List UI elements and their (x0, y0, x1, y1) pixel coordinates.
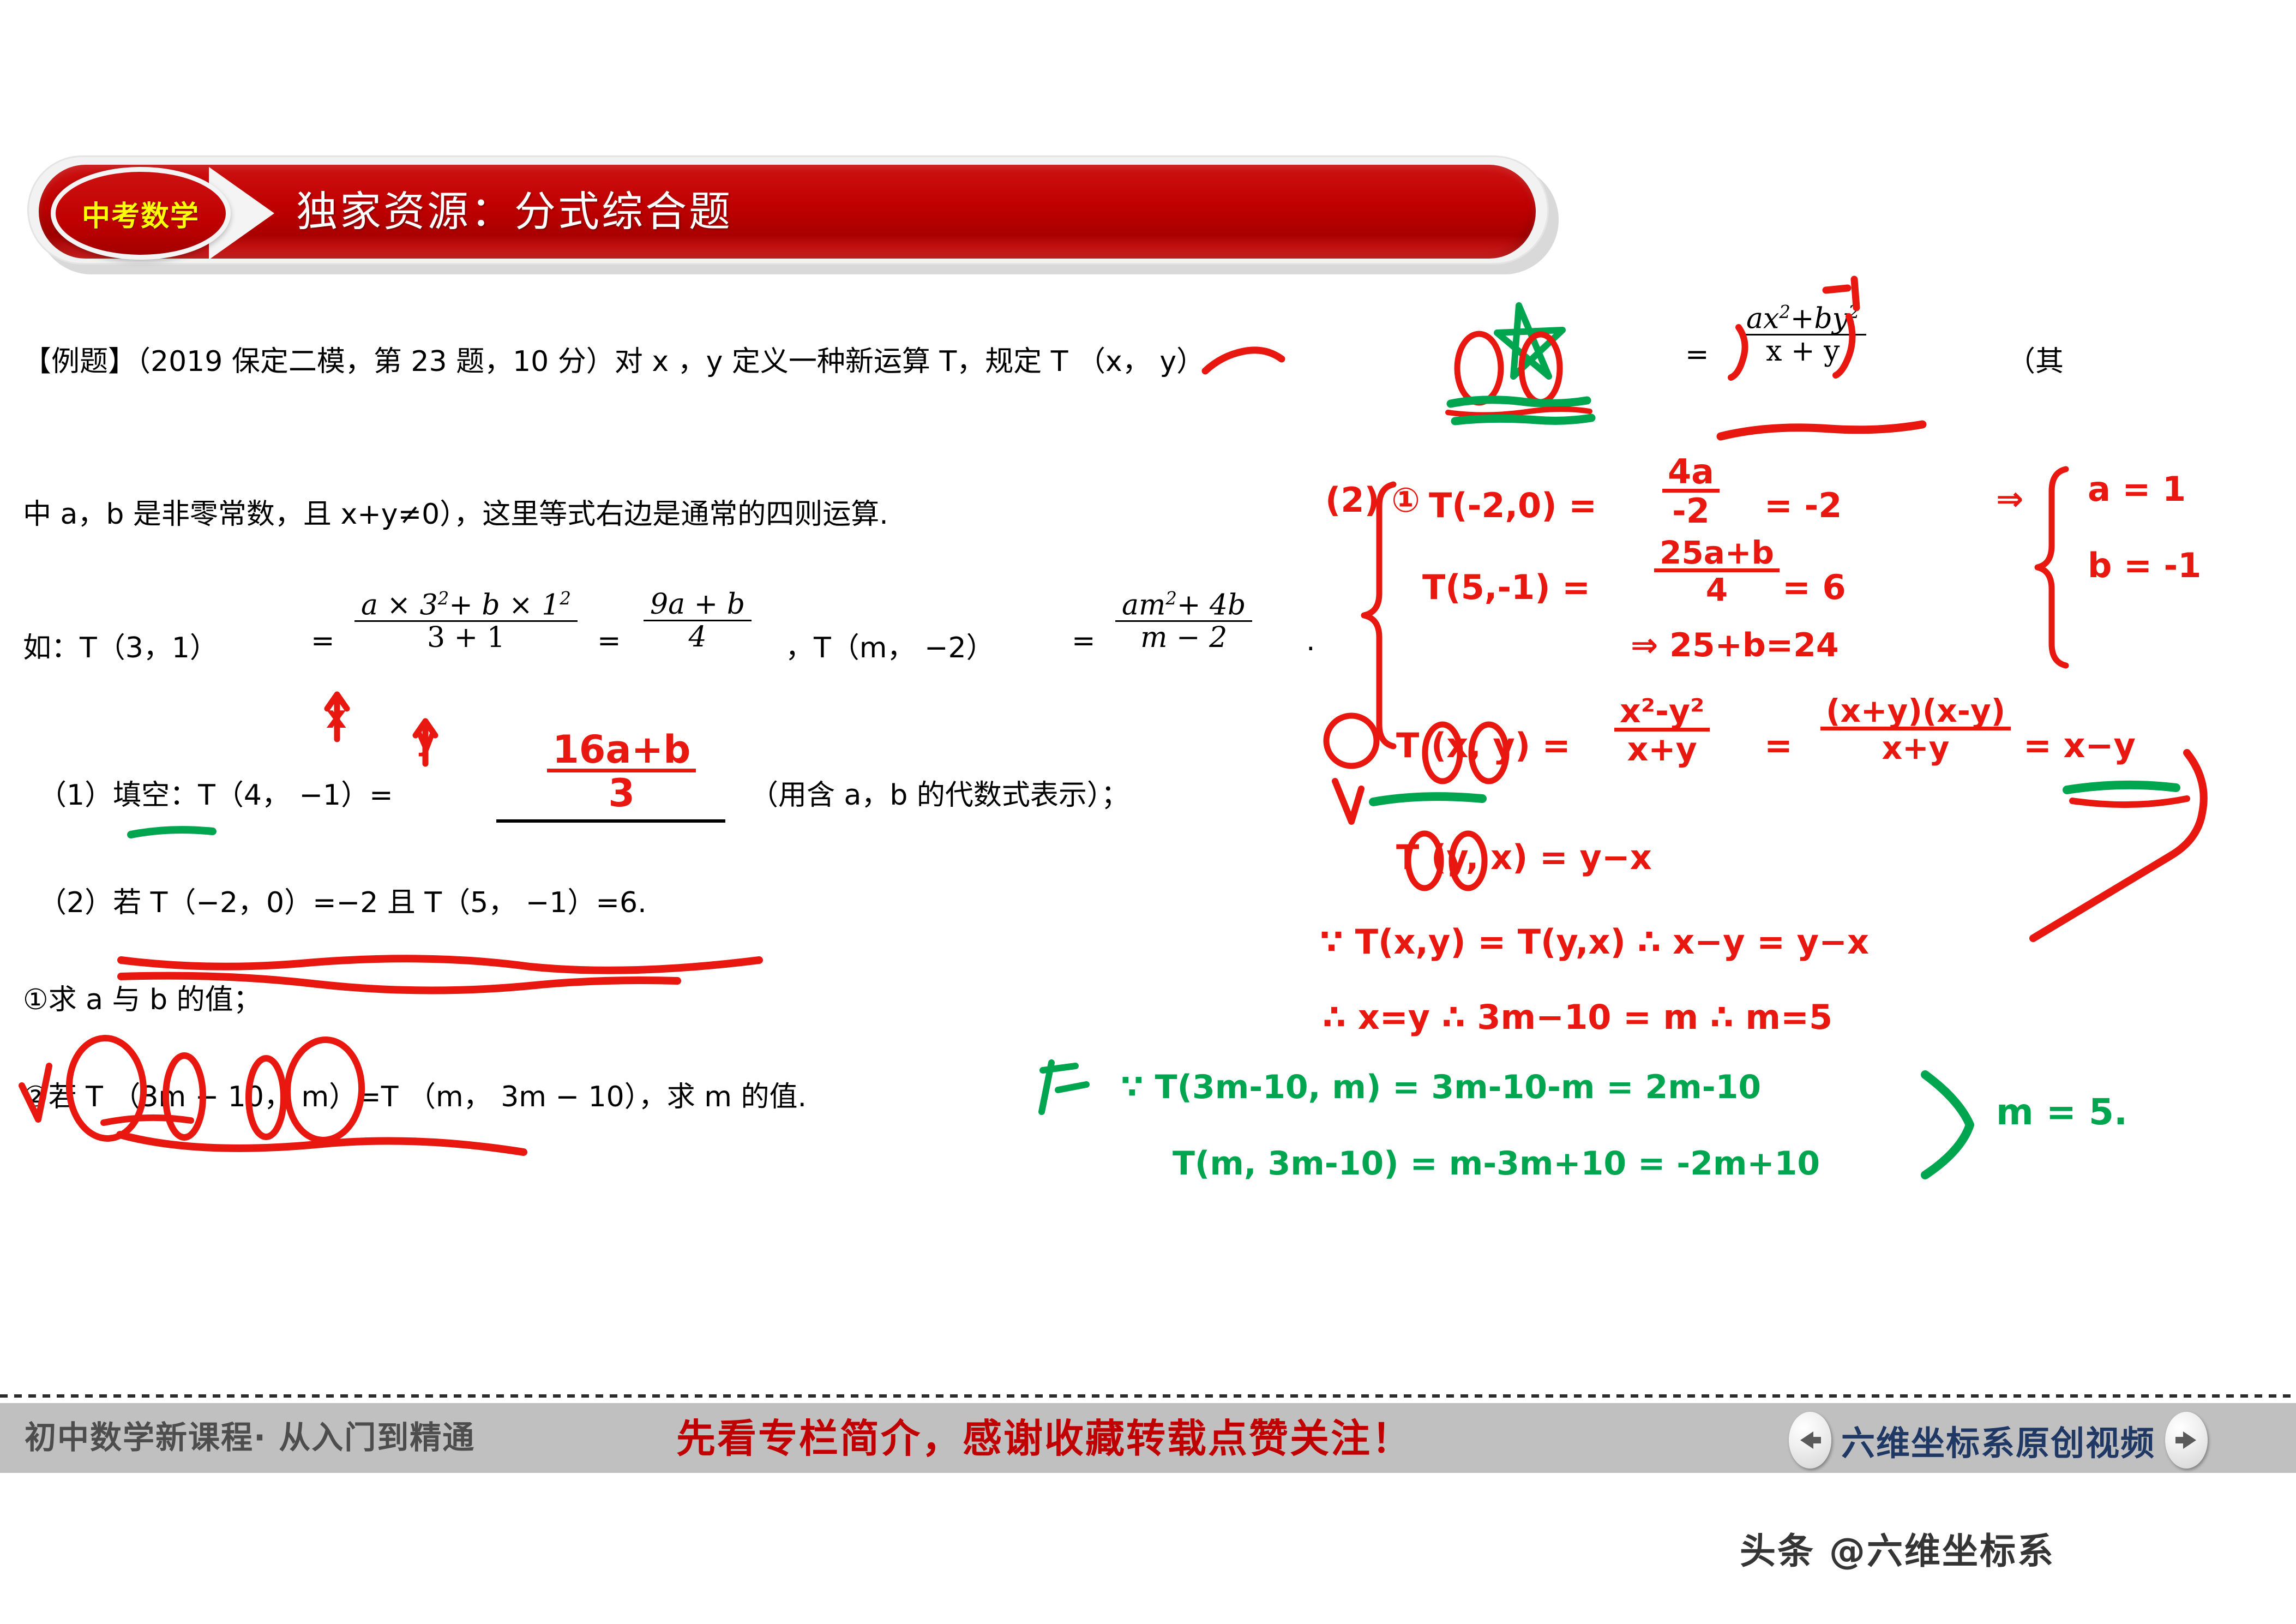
example-fraction-1-denominator: 3 + 1 (354, 622, 578, 653)
f1-num-left: a × 3 (361, 589, 438, 621)
underline-xy-green-2 (1455, 418, 1591, 421)
hw-txy-eq2: = (1764, 726, 1793, 765)
underline-denominator-xy (1721, 424, 1922, 436)
var-x: x (1763, 302, 1779, 335)
hw-q1-answer-num: 16a+b (547, 730, 696, 772)
hw-result-b: b = -1 (2088, 546, 2201, 585)
f3-num-left: am (1122, 589, 1165, 621)
problem-line-1-text: 【例题】（2019 保定二模，第 23 题，10 分）对 x ，y 定义一种新运… (23, 338, 1205, 379)
hw-eq1-frac-num: 4a (1662, 455, 1720, 493)
page-title: 独家资源：分式综合题 (296, 178, 732, 238)
hw-eq1-rhs: = -2 (1764, 486, 1842, 525)
hw-eq2-fraction: 25a+b 4 (1650, 540, 1784, 609)
hw-reason-line-2: ∴ x=y ∴ 3m−10 = m ∴ m=5 (1323, 997, 1832, 1037)
question-1-answer-blank[interactable] (496, 819, 725, 823)
hw-derive-line: ⇒ 25+b=24 (1631, 626, 1839, 664)
hw-txy-f2-num: (x+y)(x-y) (1820, 695, 2011, 730)
arrow-right-icon[interactable] (2165, 1412, 2208, 1469)
problem-line-3-tail: . (1306, 625, 1315, 657)
underline-sub2 (120, 1135, 524, 1152)
problem-line-1-equals: = (1685, 338, 1709, 371)
brace-system-left (1364, 484, 1393, 746)
underline-result-red (2072, 799, 2187, 805)
problem-line-3-eq2: = (597, 625, 621, 657)
hw-eq1-lhs: T(-2,0) = (1429, 486, 1597, 525)
hw-txy-lhs: T (x, y) = (1396, 726, 1571, 765)
underline-txy-green (1373, 796, 1482, 802)
hw-eq2-rhs: = 6 (1782, 567, 1846, 607)
hw-txy-eq3: = x−y (2023, 726, 2136, 765)
f1-num-mid: + b × 1 (449, 589, 560, 621)
f1-num-exp2: 2 (560, 588, 571, 609)
checkmark-sub2-right (1335, 781, 1361, 822)
example-fraction-2-numerator: 9a + b (644, 590, 752, 621)
banner-badge-label: 中考数学 (82, 193, 200, 234)
coef-b: b (1814, 302, 1832, 335)
banner-badge: 中考数学 (51, 167, 231, 260)
hw-green-line-2: T(m, 3m-10) = m-3m+10 = -2m+10 (1173, 1144, 1820, 1183)
example-fraction-1-numerator: a × 32+ b × 12 (354, 590, 578, 622)
f1-num-exp1: 2 (438, 588, 449, 609)
hw-green-answer: m = 5. (1996, 1091, 2127, 1133)
underline-sub2-small (104, 1118, 191, 1123)
problem-line-3-eq3: = (1072, 625, 1096, 657)
hw-txy-f1-num: x²-y² (1614, 695, 1710, 732)
hw-result-a: a = 1 (2088, 469, 2186, 509)
hw-tyx-line: T (y, x) = y−x (1396, 837, 1652, 877)
question-1-prefix: （1）填空：T（4， −1）= (38, 772, 393, 813)
definition-fraction: ax2+by2 x + y (1734, 305, 1872, 369)
question-1-suffix: （用含 a，b 的代数式表示）； (750, 772, 1129, 813)
banner-outer-frame: 中考数学 独家资源：分式综合题 (27, 155, 1549, 265)
example-fraction-3-denominator: m − 2 (1115, 622, 1252, 653)
footer-channel-label: 六维坐标系原创视频 (1841, 1416, 2155, 1465)
star-mark-green (1497, 305, 1562, 376)
hw-txy-fraction-2: (x+y)(x-y) x+y (1816, 698, 2015, 767)
green-alt-mark (1042, 1063, 1086, 1112)
problem-line-3-eq1: = (311, 625, 335, 657)
hw-eq2-lhs: T(5,-1) = (1422, 567, 1590, 607)
footer-course-label: 初中数学新课程· 从入门到精通 (25, 1412, 475, 1458)
circle-var-x (1457, 334, 1501, 403)
problem-line-3-mid: ，T（m， −2） (785, 625, 995, 666)
hw-question1-answer: 16a+b 3 (543, 734, 700, 816)
example-fraction-2: 9a + b 4 (638, 592, 757, 654)
f3-num-exp: 2 (1165, 588, 1177, 609)
header-banner: 中考数学 独家资源：分式综合题 (27, 155, 1560, 273)
underline-new-operation (1205, 350, 1282, 371)
question-2-sub-1: ①求 a 与 b 的值； (23, 976, 262, 1017)
watermark-label: 头条 @六维坐标系 (1740, 1522, 2055, 1574)
hw-part2-label: (2) ① (1325, 480, 1420, 520)
question-2-sub-2: ②若 T （3m − 10， m）=T （m， 3m − 10），求 m 的值. (23, 1074, 807, 1114)
var-y: y (1832, 302, 1848, 335)
example-fraction-2-denominator: 4 (644, 621, 752, 652)
hw-eq2-frac-num: 25a+b (1654, 537, 1780, 572)
underline-result-green (2067, 785, 2176, 790)
plus-sign: + (1790, 302, 1814, 335)
footer-nav-group[interactable]: 六维坐标系原创视频 (1789, 1412, 2208, 1469)
circle-marker-sub2 (1326, 716, 1377, 766)
green-bracket-result (1925, 1075, 1970, 1175)
footer-cta-label: 先看专栏简介，感谢收藏转载点赞关注！ (676, 1406, 1413, 1464)
pointer-arrow-right (2033, 753, 2204, 938)
hw-eq1-fraction: 4a -2 (1658, 458, 1724, 531)
example-fraction-1: a × 32+ b × 12 3 + 1 (349, 592, 583, 655)
footer-divider (0, 1394, 2296, 1398)
question-2: （2）若 T（−2，0）=−2 且 T（5， −1）=6. (38, 879, 647, 920)
underline-xy-red (1448, 409, 1590, 415)
problem-line-1-tail: （其 (2007, 338, 2064, 379)
exp-2-y: 2 (1848, 302, 1860, 322)
definition-fraction-numerator: ax2+by2 (1740, 303, 1866, 335)
hw-txy-f2-den: x+y (1820, 730, 2011, 764)
underline-question2-a (121, 958, 759, 970)
hw-var-x-label: x (326, 698, 346, 735)
underline-xy-green-1 (1451, 400, 1587, 404)
example-fraction-3-numerator: am2+ 4b (1115, 590, 1252, 622)
hw-eq2-frac-den: 4 (1654, 572, 1780, 606)
underline-t4-green (131, 830, 213, 835)
hw-q1-answer-den: 3 (547, 772, 696, 812)
hw-txy-fraction-1: x²-y² x+y (1610, 698, 1714, 769)
circle-var-y (1522, 334, 1560, 402)
hw-reason-line-1: ∵ T(x,y) = T(y,x) ∴ x−y = y−x (1320, 922, 1869, 962)
coef-a: a (1746, 302, 1763, 335)
hw-implies-arrow: ⇒ (1996, 480, 2023, 518)
exp-2-x: 2 (1779, 302, 1790, 322)
hw-var-y-label: y (416, 720, 436, 757)
problem-line-3-prefix: 如：T（3，1） (23, 625, 218, 666)
f3-num-tail: + 4b (1177, 589, 1246, 621)
arrow-left-icon[interactable] (1789, 1412, 1831, 1469)
definition-fraction-denominator: x + y (1740, 335, 1866, 367)
brace-results-right (2037, 469, 2066, 666)
hw-eq1-frac-den: -2 (1662, 493, 1720, 528)
example-fraction-3: am2+ 4b m − 2 (1110, 592, 1258, 655)
hw-txy-f1-den: x+y (1614, 732, 1710, 766)
hw-green-line-1: ∵ T(3m-10, m) = 3m-10-m = 2m-10 (1121, 1068, 1761, 1106)
problem-line-2: 中 a，b 是非零常数，且 x+y≠0），这里等式右边是通常的四则运算. (23, 491, 888, 532)
